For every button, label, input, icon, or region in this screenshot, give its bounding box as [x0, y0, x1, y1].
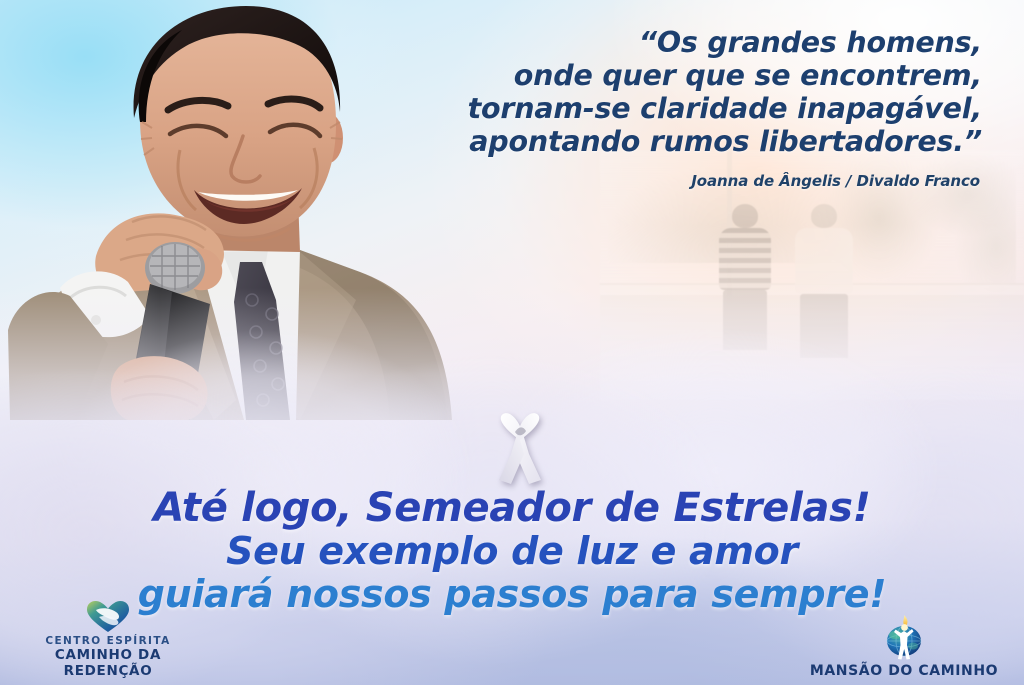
quote-line-1: “Os grandes homens,: [382, 26, 982, 59]
logo-mansao-do-caminho: MANSÃO DO CAMINHO: [794, 615, 1014, 679]
message-line-2: Seu exemplo de luz e amor: [0, 530, 1024, 573]
quote-line-3: tornam-se claridade inapagável,: [382, 92, 982, 125]
message-line-1: Até logo, Semeador de Estrelas!: [0, 486, 1024, 530]
logo-right-line-2: MANSÃO DO CAMINHO: [794, 663, 1014, 679]
globe-figure-flame-icon: [880, 615, 928, 661]
memorial-tribute-poster: “Os grandes homens, onde quer que se enc…: [0, 0, 1024, 685]
quote-attribution: Joanna de Ângelis / Divaldo Franco: [691, 172, 980, 190]
quote-line-2: onde quer que se encontrem,: [382, 59, 982, 92]
logo-centro-espirita: CENTRO ESPÍRITA CAMINHO DA REDENÇÃO: [8, 599, 208, 679]
main-message: Até logo, Semeador de Estrelas! Seu exem…: [0, 486, 1024, 616]
quote-text: “Os grandes homens, onde quer que se enc…: [382, 26, 982, 158]
heart-hands-icon: [85, 599, 131, 633]
logo-left-line-2: CAMINHO DA REDENÇÃO: [8, 647, 208, 679]
white-awareness-ribbon-icon: [485, 410, 555, 488]
logo-left-line-1: CENTRO ESPÍRITA: [8, 635, 208, 647]
quote-line-4: apontando rumos libertadores.”: [382, 125, 982, 158]
